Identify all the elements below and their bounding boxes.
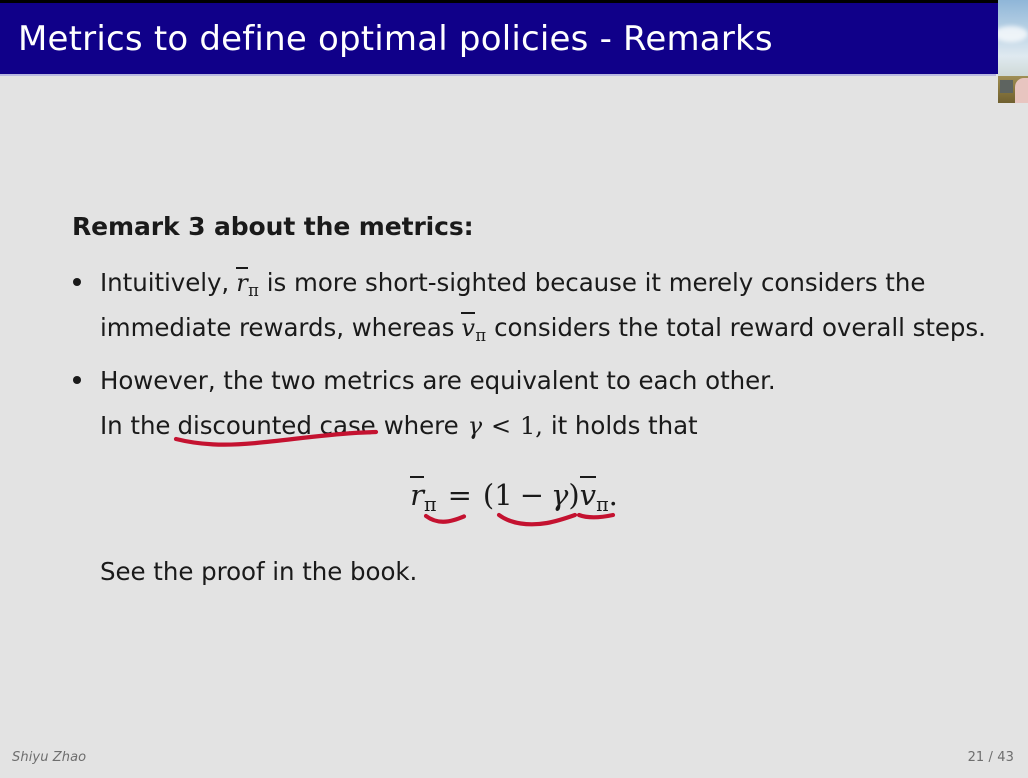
overbar-icon bbox=[461, 312, 475, 314]
bullet-1-line-2: immediate rewards, whereasvπconsiders th… bbox=[100, 313, 986, 345]
bullet-2-line-2-mid: where bbox=[384, 411, 459, 440]
math-gamma-symbol: γ bbox=[468, 412, 482, 440]
overbar-icon bbox=[236, 267, 247, 269]
math-subscript-pi: π bbox=[475, 326, 486, 345]
overbar-icon bbox=[580, 476, 596, 478]
bullet-2-line-2-pre: In the bbox=[100, 411, 170, 440]
eq-number-one: 1 bbox=[494, 478, 512, 512]
eq-gamma-symbol: γ bbox=[551, 478, 568, 512]
bullet-1-line-2-post: considers the total reward overall steps… bbox=[494, 313, 986, 342]
eq-rhs-v-bar: v bbox=[580, 478, 596, 512]
math-number-one: 1, bbox=[520, 412, 543, 440]
eq-equals-sign: = bbox=[448, 478, 472, 512]
slide-content: Remark 3 about the metrics: Intuitively,… bbox=[0, 0, 1028, 778]
equation-display: rπ=(1−γ)vπ. bbox=[0, 478, 1028, 516]
eq-lhs-subscript: π bbox=[424, 493, 437, 516]
slide: Metrics to define optimal policies - Rem… bbox=[0, 0, 1028, 778]
closing-text: See the proof in the book. bbox=[100, 557, 417, 586]
math-var-v: v bbox=[461, 314, 475, 342]
eq-period: . bbox=[609, 478, 618, 512]
math-r-bar-symbol: r bbox=[236, 269, 247, 297]
eq-rhs-subscript: π bbox=[596, 493, 609, 516]
math-v-bar-symbol: v bbox=[461, 314, 475, 342]
bullet-1-line-1: Intuitively,rπis more short-sighted beca… bbox=[100, 268, 925, 300]
underlined-phrase-discounted-case: discounted case bbox=[177, 411, 375, 440]
math-var-r: r bbox=[236, 269, 247, 297]
bullet-1-line-1-post: is more short-sighted because it merely … bbox=[267, 268, 926, 297]
bullet-1-line-1-pre: Intuitively, bbox=[100, 268, 229, 297]
math-subscript-pi: π bbox=[248, 281, 259, 300]
eq-rhs-var: v bbox=[580, 478, 596, 512]
eq-close-paren: ) bbox=[568, 478, 579, 512]
eq-minus-sign: − bbox=[520, 478, 544, 512]
bullet-2-line-1: However, the two metrics are equivalent … bbox=[100, 366, 776, 395]
bullet-1-line-2-pre: immediate rewards, whereas bbox=[100, 313, 454, 342]
bullet-2-line-2-post: it holds that bbox=[551, 411, 698, 440]
math-less-than-symbol: < bbox=[491, 412, 511, 440]
footer-author: Shiyu Zhao bbox=[12, 750, 86, 765]
bullet-2-line-2: In thediscounted casewhereγ<1,it holds t… bbox=[100, 411, 698, 440]
overbar-icon bbox=[410, 476, 424, 478]
remark-heading: Remark 3 about the metrics: bbox=[72, 212, 474, 241]
eq-lhs-var: r bbox=[410, 478, 424, 512]
bullet-marker-1 bbox=[73, 278, 81, 286]
eq-open-paren: ( bbox=[483, 478, 494, 512]
footer-page-number: 21 / 43 bbox=[968, 750, 1014, 765]
bullet-marker-2 bbox=[73, 376, 81, 384]
eq-lhs-r-bar: r bbox=[410, 478, 424, 512]
